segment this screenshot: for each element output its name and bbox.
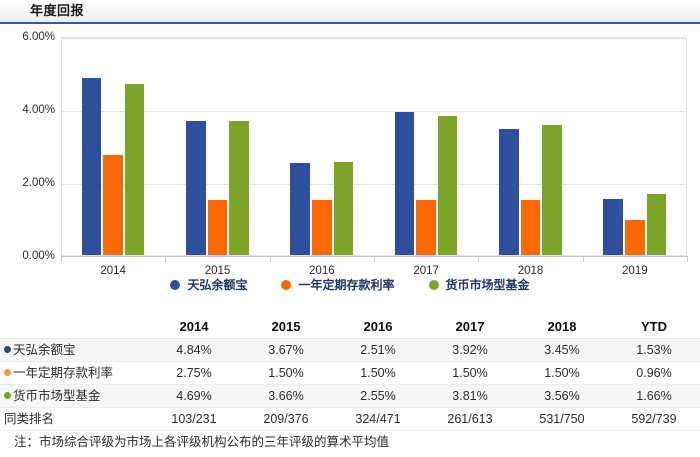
table-row-label-cell: 天弘余额宝: [0, 339, 148, 362]
legend-item[interactable]: 一年定期存款利率: [281, 276, 394, 293]
table-cell: 209/376: [240, 408, 332, 431]
table-cell: 1.50%: [516, 362, 608, 385]
chart-bar: [647, 194, 667, 255]
series-circle-marker-icon: [4, 392, 11, 399]
legend-circle-marker-icon: [170, 280, 180, 290]
table-cell: 261/613: [424, 408, 516, 431]
table-cell: 1.50%: [424, 362, 516, 385]
chart-y-axis-tick-label: 4.00%: [0, 104, 55, 116]
legend-item-label: 货币市场型基金: [446, 276, 530, 293]
table-cell: 531/750: [516, 408, 608, 431]
legend-item[interactable]: 天弘余额宝: [170, 276, 247, 293]
table-cell: 1.50%: [240, 362, 332, 385]
chart-bar: [438, 116, 458, 255]
chart-x-axis-tick: [478, 256, 479, 262]
table-cell: 4.69%: [148, 385, 240, 408]
table-header-row: 20142015201620172018YTD: [0, 316, 700, 339]
legend-circle-marker-icon: [429, 280, 439, 290]
table-cell: 324/471: [332, 408, 424, 431]
chart-bar: [229, 121, 249, 255]
chart-bar: [186, 121, 206, 255]
table-body: 天弘余额宝4.84%3.67%2.51%3.92%3.45%1.53%一年定期存…: [0, 339, 700, 431]
table-cell: 2.75%: [148, 362, 240, 385]
table-column-header: 2018: [516, 316, 608, 339]
panel-header: 年度回报: [0, 0, 700, 24]
chart-x-axis-tick: [270, 256, 271, 262]
chart-bar: [416, 200, 436, 255]
annual-return-panel: 年度回报 0.00%2.00%4.00%6.00%201420152016201…: [0, 0, 700, 457]
table-column-header: 2015: [240, 316, 332, 339]
page-title: 年度回报: [30, 0, 84, 22]
table-cell: 1.50%: [332, 362, 424, 385]
table-cell: 3.81%: [424, 385, 516, 408]
returns-table: 20142015201620172018YTD 天弘余额宝4.84%3.67%2…: [0, 316, 700, 453]
chart-bar: [395, 112, 415, 255]
table-cell: 592/739: [608, 408, 700, 431]
chart-y-axis-tick-label: 0.00%: [0, 250, 55, 262]
chart-bar: [290, 163, 310, 255]
table-column-header: 2014: [148, 316, 240, 339]
chart-bar: [125, 84, 145, 255]
table-row: 天弘余额宝4.84%3.67%2.51%3.92%3.45%1.53%: [0, 339, 700, 362]
annual-return-chart: 0.00%2.00%4.00%6.00%20142015201620172018…: [0, 24, 700, 302]
chart-bar: [603, 199, 623, 255]
table-cell: 3.45%: [516, 339, 608, 362]
chart-x-axis-tick: [165, 256, 166, 262]
table-cell: 3.66%: [240, 385, 332, 408]
chart-x-axis-tick: [374, 256, 375, 262]
table-header: 20142015201620172018YTD: [0, 316, 700, 339]
table-cell: 3.92%: [424, 339, 516, 362]
chart-bar: [499, 129, 519, 255]
table-row-label: 货币市场型基金: [13, 389, 101, 403]
chart-bar: [103, 155, 123, 255]
legend-item-label: 天弘余额宝: [187, 276, 247, 293]
table-row-label: 同类排名: [4, 412, 54, 426]
chart-bar: [625, 220, 645, 255]
table-row: 货币市场型基金4.69%3.66%2.55%3.81%3.56%1.66%: [0, 385, 700, 408]
table-footer: 注：市场综合评级为市场上各评级机构公布的三年评级的算术平均值: [0, 431, 700, 454]
chart-bar: [82, 78, 102, 255]
legend-circle-marker-icon: [281, 280, 291, 290]
chart-gridline: [62, 111, 686, 112]
table-row-label: 天弘余额宝: [13, 343, 76, 357]
chart-gridline: [62, 184, 686, 185]
chart-x-axis-tick: [687, 256, 688, 262]
chart-y-axis-tick-label: 6.00%: [0, 31, 55, 43]
chart-bar: [334, 162, 354, 255]
table-column-header: 2017: [424, 316, 516, 339]
chart-x-axis-tick: [61, 256, 62, 262]
table-cell: 0.96%: [608, 362, 700, 385]
table-column-header: YTD: [608, 316, 700, 339]
chart-bar: [542, 125, 562, 255]
table-row-label-cell: 货币市场型基金: [0, 385, 148, 408]
table-cell: 2.55%: [332, 385, 424, 408]
chart-x-axis-tick: [583, 256, 584, 262]
chart-y-axis-tick-label: 2.00%: [0, 177, 55, 189]
table-row: 一年定期存款利率2.75%1.50%1.50%1.50%1.50%0.96%: [0, 362, 700, 385]
table-column-header: 2016: [332, 316, 424, 339]
table-column-header-label: [0, 316, 148, 339]
chart-plot-area: [61, 37, 687, 256]
chart-bar: [312, 200, 332, 255]
table-note-row: 注：市场综合评级为市场上各评级机构公布的三年评级的算术平均值: [0, 431, 700, 454]
table-cell: 1.53%: [608, 339, 700, 362]
series-circle-marker-icon: [4, 346, 11, 353]
table-row-label: 一年定期存款利率: [13, 366, 113, 380]
table-cell: 3.56%: [516, 385, 608, 408]
returns-table-wrapper: 20142015201620172018YTD 天弘余额宝4.84%3.67%2…: [0, 316, 700, 453]
legend-item-label: 一年定期存款利率: [298, 276, 394, 293]
table-cell: 2.51%: [332, 339, 424, 362]
table-cell: 4.84%: [148, 339, 240, 362]
table-row-label-cell: 同类排名: [0, 408, 148, 431]
table-note: 注：市场综合评级为市场上各评级机构公布的三年评级的算术平均值: [0, 431, 700, 454]
table-row-label-cell: 一年定期存款利率: [0, 362, 148, 385]
table-cell: 3.67%: [240, 339, 332, 362]
table-cell: 103/231: [148, 408, 240, 431]
series-circle-marker-icon: [4, 369, 11, 376]
chart-legend: 天弘余额宝一年定期存款利率货币市场型基金: [0, 276, 700, 293]
chart-bar: [208, 200, 228, 255]
chart-bar: [521, 200, 541, 255]
legend-item[interactable]: 货币市场型基金: [429, 276, 530, 293]
table-row: 同类排名103/231209/376324/471261/613531/7505…: [0, 408, 700, 431]
chart-gridline: [62, 38, 686, 39]
table-cell: 1.66%: [608, 385, 700, 408]
